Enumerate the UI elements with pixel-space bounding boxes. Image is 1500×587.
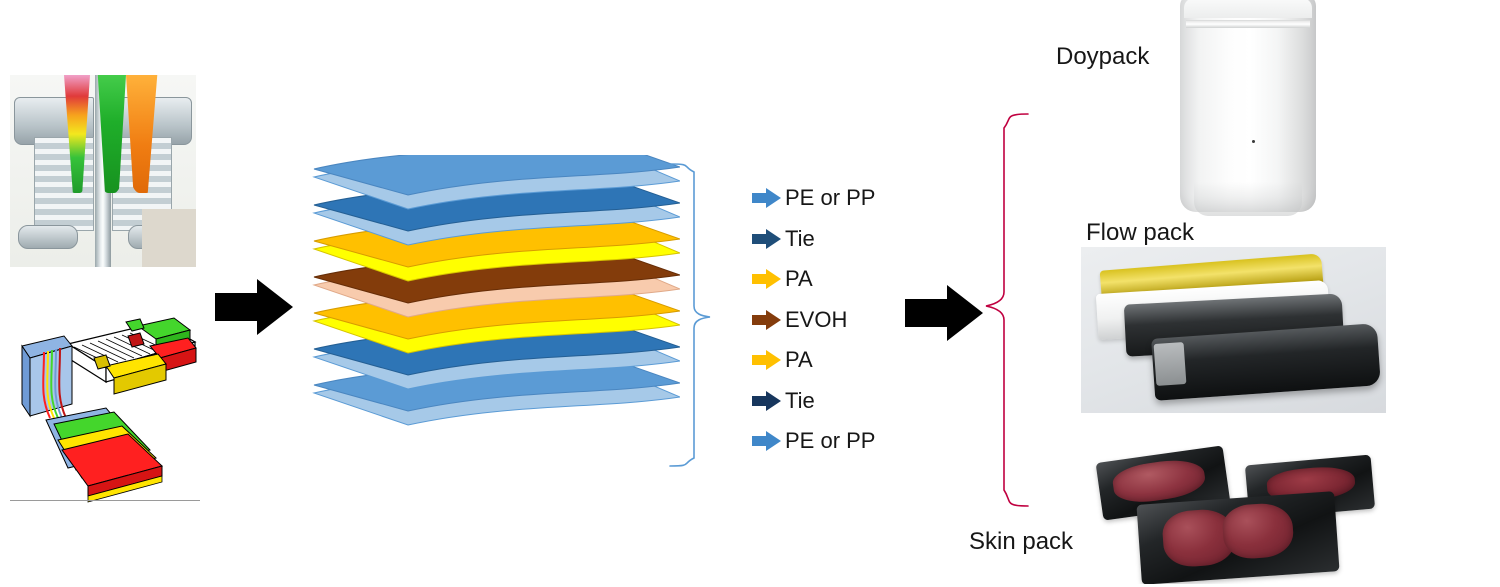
arrow-right-icon	[752, 228, 782, 250]
legend-item-5: PA	[752, 340, 932, 381]
arrow-head	[257, 279, 293, 335]
coextrusion-die-cutaway	[10, 75, 196, 267]
arrow-head	[947, 285, 983, 341]
legend-item-7: PE or PP	[752, 421, 932, 462]
label-skin-pack: Skin pack	[969, 528, 1073, 556]
arrow-right-icon	[752, 268, 782, 290]
doypack-zipper	[1186, 20, 1310, 28]
legend-item-2: Tie	[752, 219, 932, 260]
arrow-shaft	[905, 299, 951, 327]
arrow-right-icon	[752, 349, 782, 371]
arrow-shaft	[215, 293, 261, 321]
arrow-right-icon	[752, 309, 782, 331]
legend-label: PA	[785, 349, 813, 371]
flowpack-end-seal	[1154, 342, 1187, 386]
die-background-shadow	[142, 209, 196, 267]
multilayer-film-stack	[300, 155, 680, 465]
legend-item-1: PE or PP	[752, 178, 932, 219]
skinpack-photo	[1085, 446, 1385, 584]
legend-label: PE or PP	[785, 430, 875, 452]
line-baseline	[10, 500, 200, 501]
arrow-right-icon	[752, 430, 782, 452]
arrow-right-icon	[752, 187, 782, 209]
legend-label: PE or PP	[785, 187, 875, 209]
packaging-brace	[982, 110, 1032, 510]
flowpack-photo	[1081, 247, 1386, 413]
film-layers	[300, 155, 680, 465]
doypack-bottom-gusset	[1194, 182, 1302, 216]
process-arrow-1	[215, 279, 297, 335]
die-foot-left	[18, 225, 78, 249]
doypack-top-header	[1184, 0, 1312, 18]
arrow-right-icon	[752, 390, 782, 412]
legend-label: EVOH	[785, 309, 847, 331]
slide-canvas: Polymer material processing: the co-extr…	[0, 0, 1500, 587]
legend-label: Tie	[785, 228, 815, 250]
page-title: Polymer material processing: the co-extr…	[100, 0, 1200, 1]
doypack-bag-body	[1180, 0, 1316, 212]
doypack-photo	[1174, 0, 1322, 216]
die-spiral-left	[34, 137, 94, 231]
brace-blue	[668, 158, 722, 470]
label-flow-pack: Flow pack	[1086, 219, 1194, 247]
line-drawing	[10, 300, 200, 505]
coextrusion-line-schematic	[10, 300, 200, 505]
legend-label: Tie	[785, 390, 815, 412]
legend-label: PA	[785, 268, 813, 290]
legend-item-6: Tie	[752, 381, 932, 422]
film-layers-brace	[668, 158, 722, 470]
process-arrow-2	[905, 285, 987, 341]
label-doypack: Doypack	[1056, 43, 1149, 71]
doypack-speck	[1252, 140, 1255, 143]
brace-red	[982, 110, 1032, 510]
